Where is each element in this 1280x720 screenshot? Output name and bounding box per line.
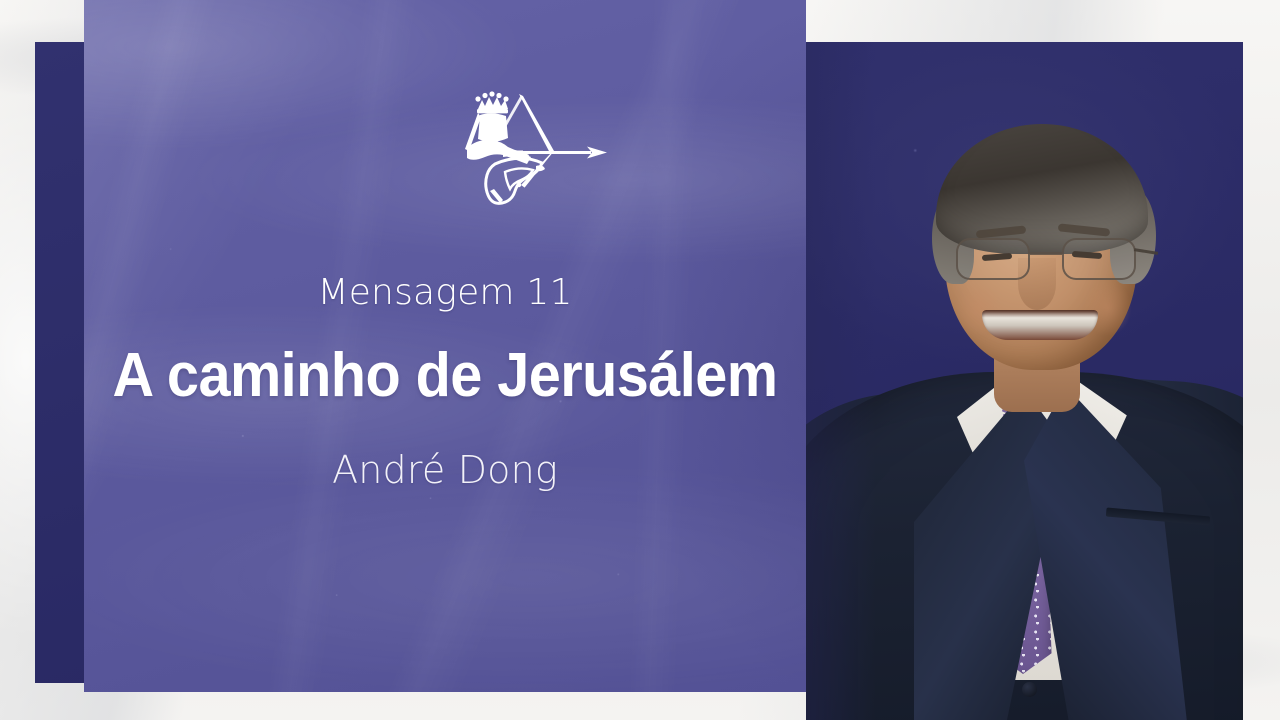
panel-content: Mensagem 11 A caminho de Jerusálem André…: [84, 0, 806, 692]
crowned-archer-on-horseback-logo: [447, 88, 615, 208]
eyeglass-lens-right: [1062, 238, 1136, 280]
suit-button: [1022, 682, 1037, 697]
page-title: A caminho de Jerusálem: [109, 340, 780, 411]
mouth-smiling: [982, 310, 1098, 340]
eyeglasses: [956, 238, 1136, 284]
slide-canvas: Mensagem 11 A caminho de Jerusálem André…: [0, 0, 1280, 720]
speaker-photo: [806, 42, 1243, 720]
speaker-name: André Dong: [84, 448, 806, 492]
message-number-label: Mensagem 11: [84, 272, 806, 313]
eyeglass-bridge: [1030, 252, 1062, 255]
title-panel: Mensagem 11 A caminho de Jerusálem André…: [84, 0, 806, 692]
eyeglass-lens-left: [956, 238, 1030, 280]
